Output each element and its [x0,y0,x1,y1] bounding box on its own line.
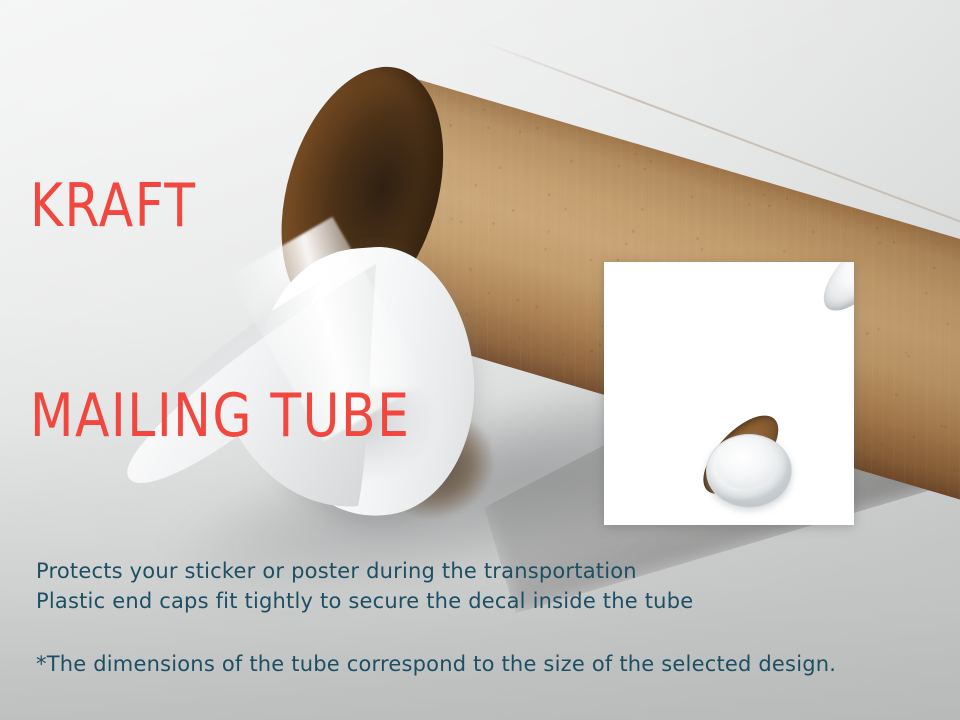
page-title: KRAFT MAILING TUBE [30,32,410,592]
footnote-text: *The dimensions of the tube correspond t… [36,652,836,676]
inset-white-end-cap [812,262,854,322]
feature-line-1: Protects your sticker or poster during t… [36,556,693,586]
feature-line-2: Plastic end caps fit tightly to secure t… [36,586,693,616]
product-banner: KRAFT MAILING TUBE Protects your sticker… [0,0,960,720]
product-photo-inset [604,262,854,525]
headline-line-1: KRAFT [30,172,410,242]
inset-scene [604,262,854,525]
headline-line-2: MAILING TUBE [30,382,410,452]
inset-loose-cap-inner [716,440,778,490]
feature-description: Protects your sticker or poster during t… [36,556,693,616]
